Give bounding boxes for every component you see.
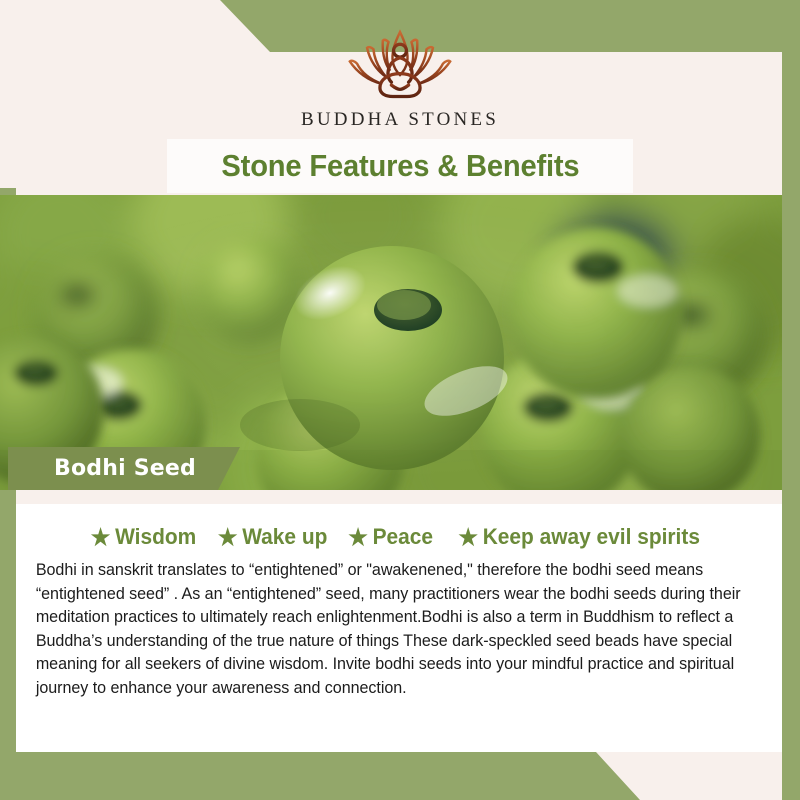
lotus-meditation-logo-icon xyxy=(314,22,486,108)
benefit-label: Wisdom xyxy=(115,524,196,550)
benefit-item-wake-up: ★ Wake up xyxy=(218,524,328,550)
brand-header: BUDDHA STONES xyxy=(0,0,800,140)
star-icon: ★ xyxy=(458,526,478,549)
benefit-item-peace: ★ Peace xyxy=(349,524,434,550)
poster-canvas: BUDDHA STONES Stone Features & Benefits xyxy=(0,0,800,800)
star-icon: ★ xyxy=(91,526,111,549)
frame-bottom-band xyxy=(0,752,800,800)
frame-bottom-right-stripe xyxy=(782,740,800,800)
page-title: Stone Features & Benefits xyxy=(221,148,579,184)
hero-caption-label: Bodhi Seed xyxy=(54,456,196,481)
brand-name: BUDDHA STONES xyxy=(301,109,499,131)
benefit-label: Peace xyxy=(373,524,433,550)
section-title-banner: Stone Features & Benefits xyxy=(167,139,633,193)
benefit-item-keep-away-evil-spirits: ★ Keep away evil spirits xyxy=(458,524,700,550)
benefit-label: Wake up xyxy=(242,524,327,550)
hero-image xyxy=(0,195,782,490)
hero-caption-banner: Bodhi Seed xyxy=(8,447,240,490)
benefit-item-wisdom: ★ Wisdom xyxy=(91,524,196,550)
star-icon: ★ xyxy=(218,526,238,549)
star-icon: ★ xyxy=(349,526,369,549)
content-panel: ★ Wisdom ★ Wake up ★ Peace ★ Keep away e… xyxy=(16,504,782,752)
benefit-label: Keep away evil spirits xyxy=(482,524,699,550)
benefits-row: ★ Wisdom ★ Wake up ★ Peace ★ Keep away e… xyxy=(30,524,764,550)
description-paragraph: Bodhi in sanskrit translates to “entight… xyxy=(30,558,742,699)
